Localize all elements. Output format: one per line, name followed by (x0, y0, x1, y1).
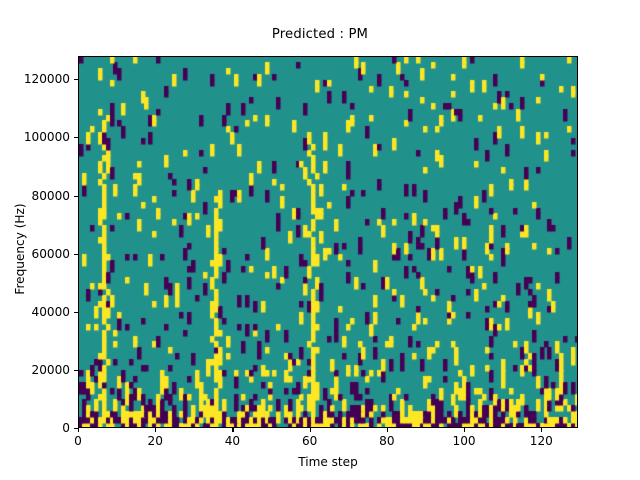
x-tick-mark (387, 428, 388, 432)
y-tick-label: 80000 (32, 189, 70, 203)
x-tick-mark (310, 428, 311, 432)
x-axis-label: Time step (78, 455, 578, 469)
y-tick-label: 60000 (32, 247, 70, 261)
x-tick-label: 120 (530, 434, 553, 448)
x-tick-mark (232, 428, 233, 432)
x-tick-label: 80 (379, 434, 394, 448)
y-tick-label: 20000 (32, 363, 70, 377)
heatmap-image (79, 57, 578, 428)
x-tick-label: 40 (225, 434, 240, 448)
x-tick-label: 100 (453, 434, 476, 448)
matplotlib-figure: Predicted : PM 0200004000060000800001000… (0, 0, 640, 480)
x-tick-mark (78, 428, 79, 432)
x-tick-mark (464, 428, 465, 432)
x-axis: 020406080100120 (78, 428, 578, 458)
y-tick-label: 0 (62, 421, 70, 435)
x-tick-label: 60 (302, 434, 317, 448)
page-title: Predicted : PM (0, 27, 640, 42)
x-tick-label: 0 (74, 434, 82, 448)
x-tick-label: 20 (148, 434, 163, 448)
x-tick-mark (541, 428, 542, 432)
x-tick-mark (155, 428, 156, 432)
y-axis: 020000400006000080000100000120000 (0, 56, 78, 428)
heatmap-axes (78, 56, 578, 428)
y-axis-label: Frequency (Hz) (13, 149, 27, 349)
y-tick-label: 40000 (32, 305, 70, 319)
y-tick-label: 120000 (24, 72, 70, 86)
y-tick-label: 100000 (24, 130, 70, 144)
